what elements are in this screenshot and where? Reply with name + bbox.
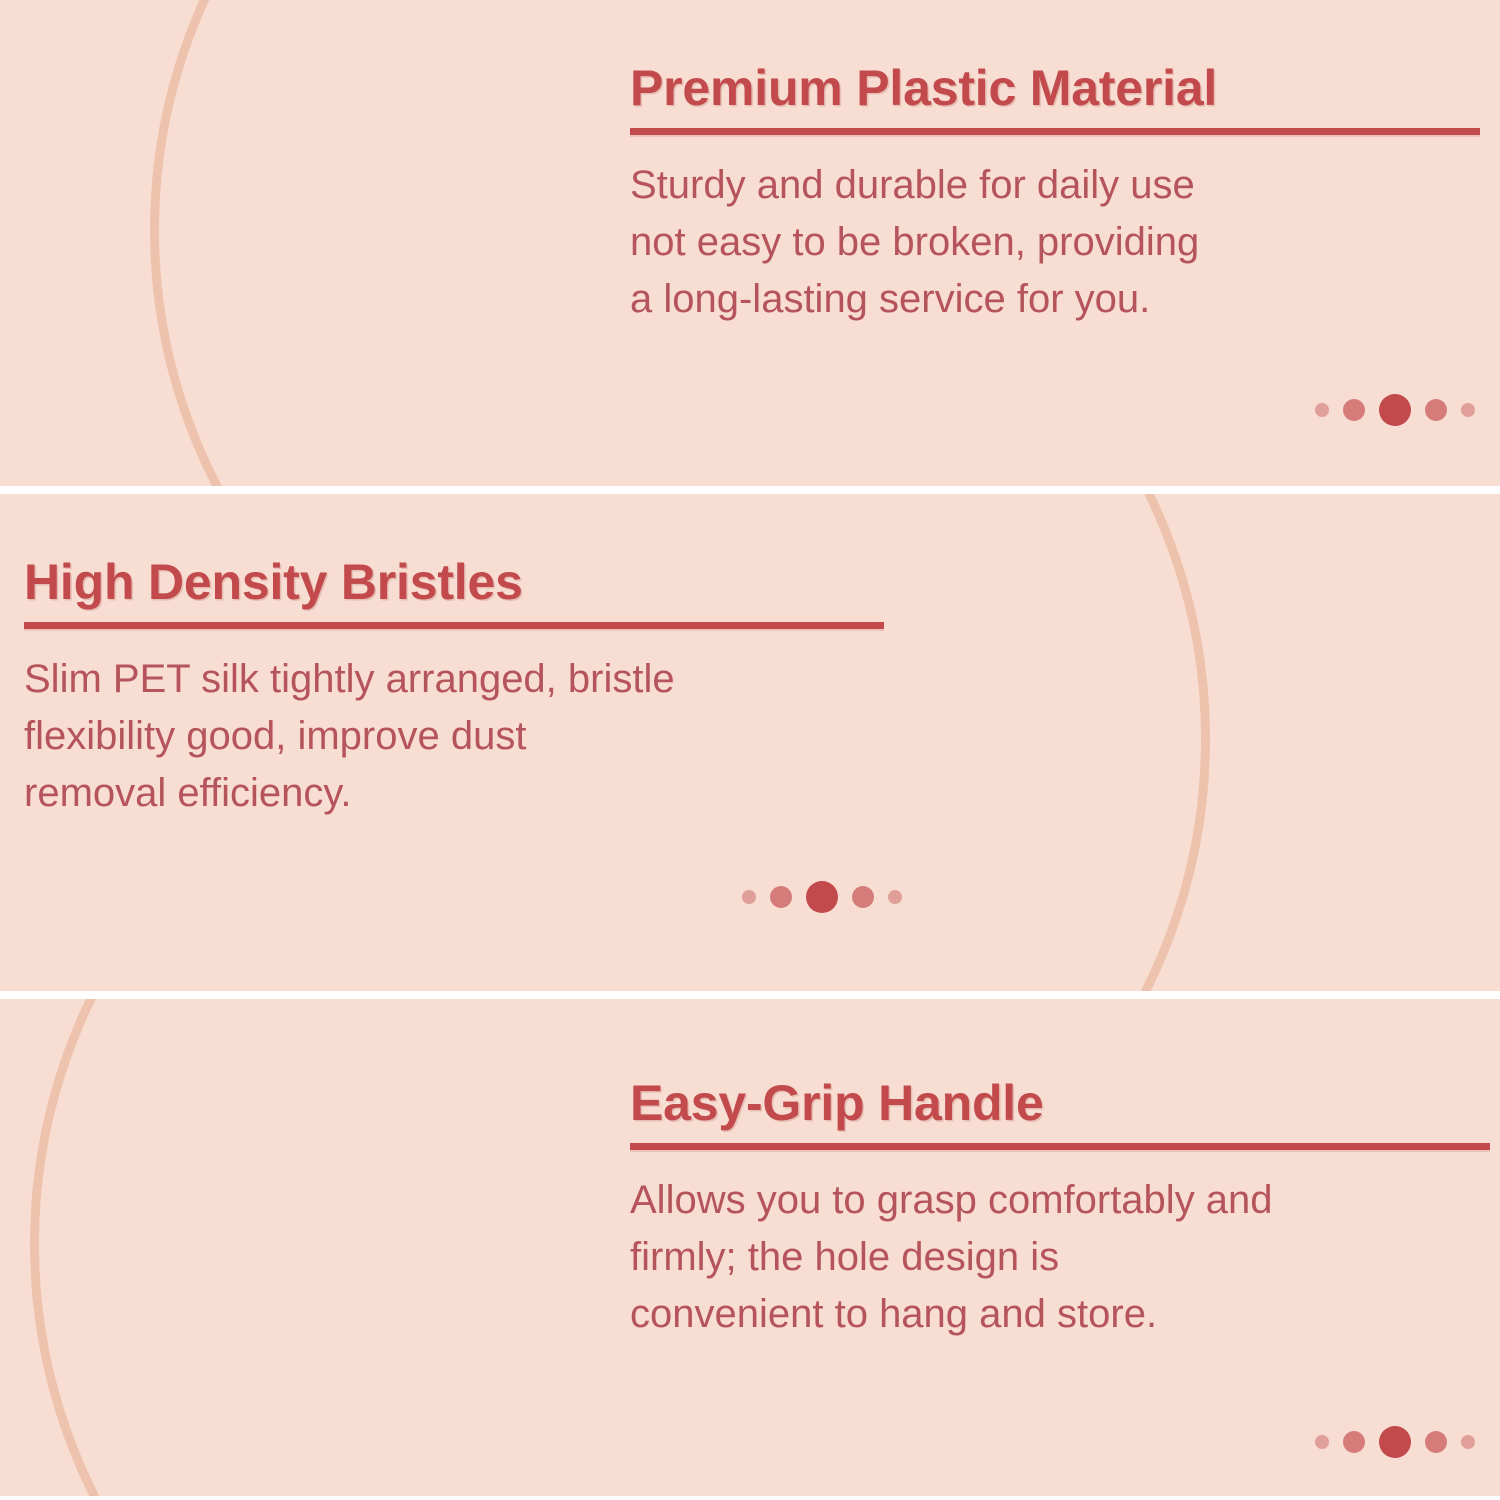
- product-photo-handle: [0, 999, 660, 1496]
- decorative-dot: [1379, 394, 1411, 426]
- circular-photo-mask: [150, 0, 640, 486]
- body-line: flexibility good, improve dust: [24, 708, 884, 765]
- feature-text-block: High Density Bristles Slim PET silk tigh…: [24, 494, 884, 991]
- decorative-dots: [1315, 394, 1475, 426]
- decorative-dot: [1461, 403, 1475, 417]
- panel-divider: [0, 486, 1500, 494]
- decorative-dots: [742, 881, 902, 913]
- body-line: Slim PET silk tightly arranged, bristle: [24, 651, 884, 708]
- heading-underline: [630, 1143, 1490, 1150]
- body-line: firmly; the hole design is: [630, 1229, 1490, 1286]
- heading-underline: [630, 128, 1480, 135]
- circular-photo-mask: [850, 494, 1210, 991]
- decorative-dots: [1315, 1426, 1475, 1458]
- decorative-dot: [1343, 399, 1365, 421]
- decorative-dot: [888, 890, 902, 904]
- decorative-dot: [1343, 1431, 1365, 1453]
- body-line: a long-lasting service for you.: [630, 271, 1480, 328]
- body-line: removal efficiency.: [24, 765, 884, 822]
- decorative-dot: [1425, 399, 1447, 421]
- body-line: Sturdy and durable for daily use: [630, 157, 1480, 214]
- decorative-dot: [1315, 1435, 1329, 1449]
- panel-body-copy: Slim PET silk tightly arranged, bristle …: [24, 629, 884, 821]
- feature-text-block: Easy-Grip Handle Allows you to grasp com…: [630, 999, 1490, 1496]
- product-feature-infographic: Premium Plastic Material Sturdy and dura…: [0, 0, 1500, 1500]
- circular-photo-mask: [30, 999, 660, 1496]
- panel-heading: Premium Plastic Material: [630, 62, 1480, 115]
- feature-panel-premium-plastic-material: Premium Plastic Material Sturdy and dura…: [0, 0, 1500, 486]
- decorative-dot: [1379, 1426, 1411, 1458]
- decorative-dot: [1315, 403, 1329, 417]
- product-photo-brush: [850, 494, 1500, 991]
- decorative-dot: [1461, 1435, 1475, 1449]
- panel-body-copy: Allows you to grasp comfortably and firm…: [630, 1150, 1490, 1342]
- panel-heading: High Density Bristles: [24, 556, 884, 609]
- product-photo-dustpan: [0, 0, 640, 486]
- decorative-dot: [770, 886, 792, 908]
- decorative-dot: [806, 881, 838, 913]
- heading-underline: [24, 622, 884, 629]
- decorative-dot: [742, 890, 756, 904]
- body-line: Allows you to grasp comfortably and: [630, 1172, 1490, 1229]
- panel-divider: [0, 991, 1500, 999]
- feature-panel-easy-grip-handle: Easy-Grip Handle Allows you to grasp com…: [0, 999, 1500, 1496]
- panel-heading: Easy-Grip Handle: [630, 1077, 1490, 1130]
- panel-body-copy: Sturdy and durable for daily use not eas…: [630, 135, 1480, 327]
- feature-panel-high-density-bristles: High Density Bristles Slim PET silk tigh…: [0, 494, 1500, 991]
- body-line: convenient to hang and store.: [630, 1286, 1490, 1343]
- decorative-dot: [852, 886, 874, 908]
- body-line: not easy to be broken, providing: [630, 214, 1480, 271]
- decorative-dot: [1425, 1431, 1447, 1453]
